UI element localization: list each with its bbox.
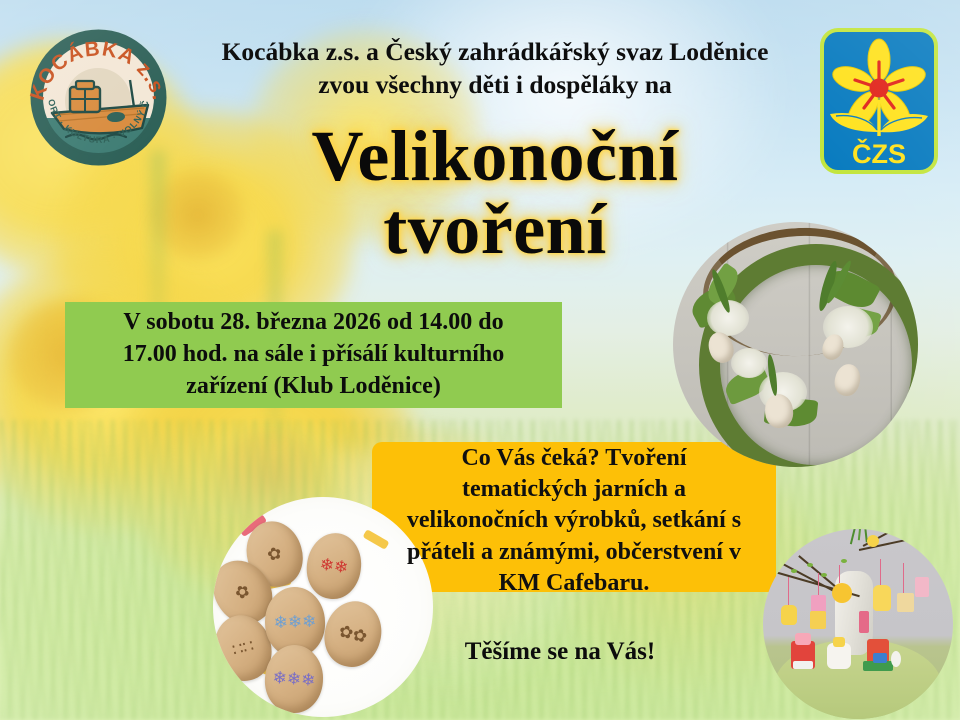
green-box-line-3: zařízení (Klub Loděnice) [75,370,552,402]
orange-box-line-5: KM Cafebaru. [360,568,788,599]
czs-label: ČZS [852,138,906,169]
easter-wreath-photo [673,222,918,467]
green-box-line-1: V sobotu 28. března 2026 od 14.00 do [75,306,552,338]
orange-box-line-3: velikonočních výrobků, setkání s [360,505,788,536]
easter-event-poster: KOCÁBKA z.s. SPORT · KULTURA · VOLNÝ ČAS [0,0,960,720]
event-datetime-box: V sobotu 28. března 2026 od 14.00 do 17.… [65,302,562,408]
czs-logo: ČZS [820,28,938,174]
kocabka-logo: KOCÁBKA z.s. SPORT · KULTURA · VOLNÝ ČAS [26,25,171,170]
closing-text: Těšíme se na Vás! [330,638,790,666]
orange-box-line-2: tematických jarních a [360,474,788,505]
intro-line-1: Kocábka z.s. a Český zahrádkářský svaz L… [175,36,815,69]
bead-craft-photo [763,529,953,719]
title-line-1: Velikonoční [170,120,820,193]
intro-line-2: zvou všechny děti i dospěláky na [175,69,815,102]
intro-text: Kocábka z.s. a Český zahrádkářský svaz L… [175,36,815,101]
orange-box-line-4: přáteli a známými, občerstvení v [360,537,788,568]
orange-box-line-1: Co Vás čeká? Tvoření [360,443,788,474]
background-daffodil-stem [150,150,166,320]
event-details-text: Co Vás čeká? Tvoření tematických jarních… [360,443,788,599]
green-box-line-2: 17.00 hod. na sále i přísálí kulturního [75,338,552,370]
